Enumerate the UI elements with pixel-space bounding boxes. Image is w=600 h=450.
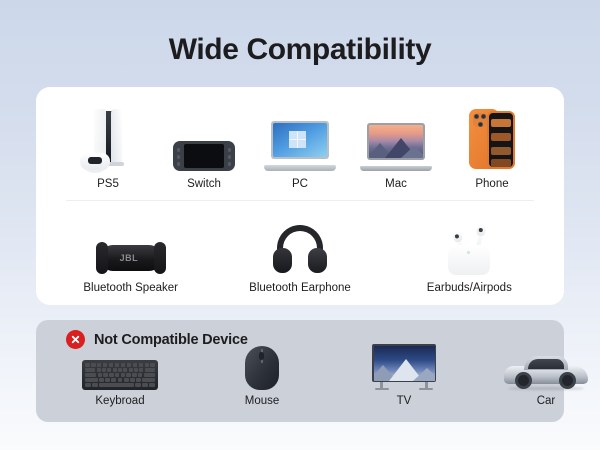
mouse-icon <box>216 342 308 390</box>
device-item-bluetooth-speaker[interactable]: JBL Bluetooth Speaker <box>70 209 191 294</box>
device-label: Keybroad <box>95 395 144 407</box>
device-item-phone[interactable]: Phone <box>444 105 540 190</box>
device-item-mac[interactable]: Mac <box>348 105 444 190</box>
device-label: Switch <box>187 178 221 190</box>
keyboard-icon <box>74 342 166 390</box>
device-item-pc[interactable]: PC <box>252 105 348 190</box>
device-item-tv[interactable]: TV <box>358 342 450 407</box>
smartphone-icon <box>446 105 538 171</box>
compatible-devices-card: PS5 Switch <box>36 87 564 305</box>
device-item-mouse[interactable]: Mouse <box>216 342 308 407</box>
nintendo-switch-icon <box>158 105 250 171</box>
television-icon <box>358 342 450 390</box>
car-icon <box>500 342 592 390</box>
device-item-car[interactable]: Car <box>500 342 592 407</box>
headphones-icon <box>254 209 346 275</box>
incompatible-row: Keybroad Mouse <box>36 342 564 407</box>
device-label: Earbuds/Airpods <box>427 282 512 294</box>
device-item-ps5[interactable]: PS5 <box>60 105 156 190</box>
compatible-row-1: PS5 Switch <box>36 105 564 190</box>
bluetooth-speaker-icon: JBL <box>85 209 177 275</box>
device-item-bluetooth-earphone[interactable]: Bluetooth Earphone <box>239 209 360 294</box>
device-label: Phone <box>475 178 508 190</box>
compatible-row-2: JBL Bluetooth Speaker Bluetooth Earphone <box>36 209 564 294</box>
device-label: PC <box>292 178 308 190</box>
device-label: Mouse <box>245 395 280 407</box>
device-label: PS5 <box>97 178 119 190</box>
device-item-switch[interactable]: Switch <box>156 105 252 190</box>
device-label: Bluetooth Speaker <box>83 282 178 294</box>
earbuds-case-icon <box>423 209 515 275</box>
device-item-earbuds[interactable]: Earbuds/Airpods <box>409 209 530 294</box>
device-label: Bluetooth Earphone <box>249 282 351 294</box>
windows-laptop-icon <box>254 105 346 171</box>
macbook-icon <box>350 105 442 171</box>
device-label: Mac <box>385 178 407 190</box>
device-label: Car <box>537 395 556 407</box>
ps5-console-icon <box>62 105 154 171</box>
incompatible-devices-card: Not Compatible Device Keybroad <box>36 320 564 422</box>
device-item-keyboard[interactable]: Keybroad <box>74 342 166 407</box>
device-label: TV <box>397 395 412 407</box>
page-title: Wide Compatibility <box>0 0 600 68</box>
row-divider <box>66 200 534 201</box>
